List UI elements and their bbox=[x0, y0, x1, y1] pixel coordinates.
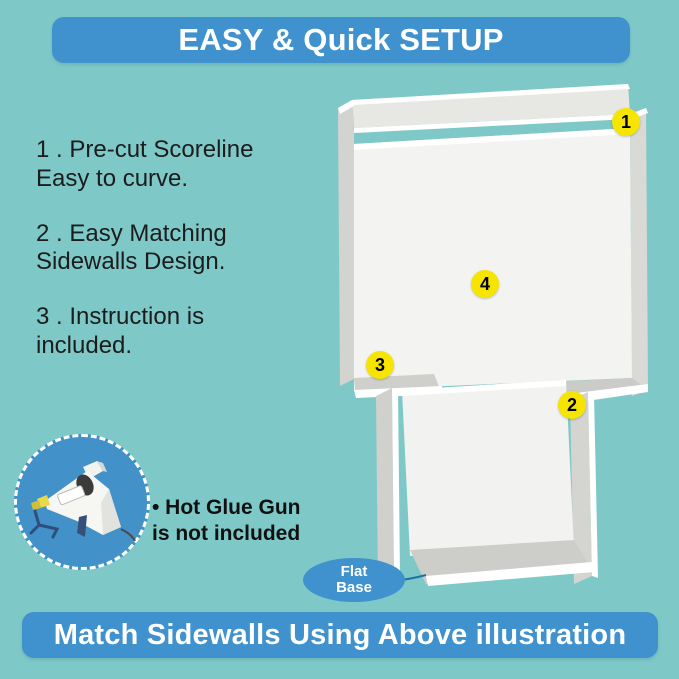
footer-banner: Match Sidewalls Using Above illustration bbox=[22, 612, 658, 658]
glue-gun-icon bbox=[17, 437, 153, 573]
crossbar-face bbox=[354, 128, 632, 390]
infographic-canvas: EASY & Quick SETUP 1 . Pre-cut Scoreline… bbox=[0, 0, 679, 679]
top-sidewall bbox=[352, 84, 630, 133]
callout-badge-3: 3 bbox=[366, 351, 394, 379]
callout-badge-1: 1 bbox=[612, 108, 640, 136]
feature-list: 1 . Pre-cut Scoreline Easy to curve. 2 .… bbox=[36, 136, 336, 387]
flat-base-line-1: Flat bbox=[341, 564, 368, 581]
glue-gun-note: • Hot Glue Gun is not included bbox=[152, 495, 352, 548]
header-banner: EASY & Quick SETUP bbox=[52, 17, 630, 63]
right-crossbar-sidewall bbox=[630, 108, 648, 396]
left-stem-sidewall bbox=[376, 388, 400, 584]
left-crossbar-sidewall bbox=[338, 100, 356, 386]
letter-t-shape bbox=[330, 78, 679, 598]
stem-face bbox=[402, 380, 574, 556]
callout-badge-4: 4 bbox=[471, 270, 499, 298]
flat-base-line-2: Base bbox=[336, 580, 372, 597]
flat-base-callout: Flat Base bbox=[303, 558, 405, 602]
feature-item-3: 3 . Instruction is included. bbox=[36, 303, 336, 361]
glue-gun-badge-circle bbox=[14, 434, 150, 570]
feature-item-2: 2 . Easy Matching Sidewalls Design. bbox=[36, 220, 336, 278]
feature-item-1: 1 . Pre-cut Scoreline Easy to curve. bbox=[36, 136, 336, 194]
letter-illustration bbox=[330, 78, 679, 598]
callout-badge-2: 2 bbox=[558, 391, 586, 419]
